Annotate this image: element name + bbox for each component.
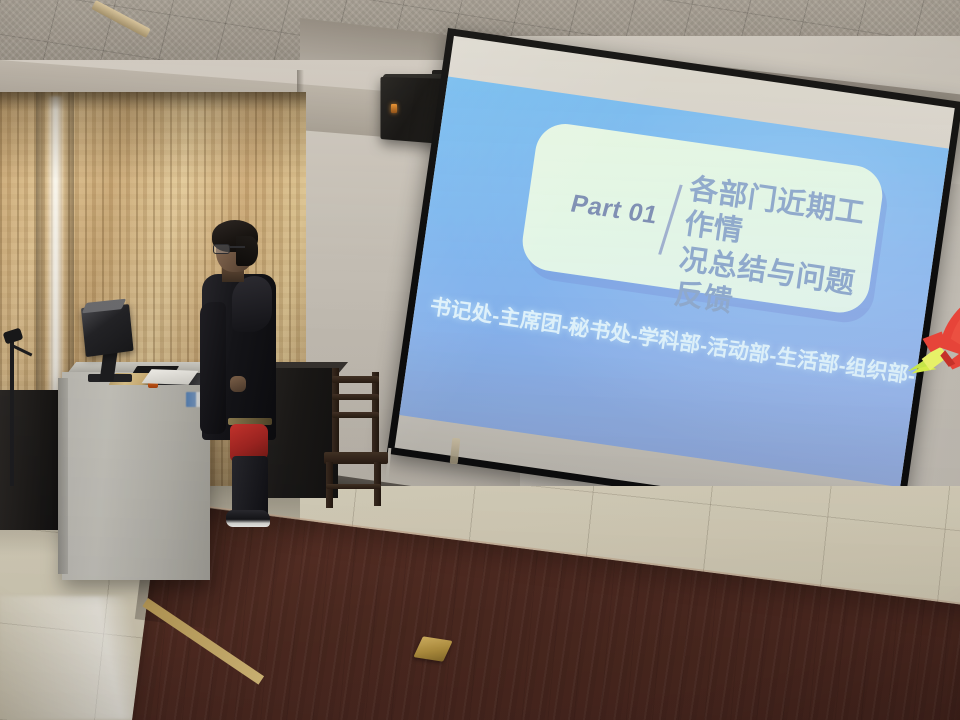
chair-slat-lower bbox=[332, 412, 379, 418]
presenter-shoe bbox=[226, 510, 270, 527]
lectern-side bbox=[58, 378, 68, 574]
mic-stand-pole bbox=[10, 336, 14, 486]
presenter-hand bbox=[230, 376, 246, 392]
slide-title: 各部门近期工作情 况总结与问题反馈 bbox=[672, 172, 878, 339]
glasses-icon bbox=[213, 244, 230, 254]
chair-back-post-right bbox=[372, 372, 379, 464]
classroom-photo: Part 01 各部门近期工作情 况总结与问题反馈 书记处-主席团-秘书处-学科… bbox=[0, 0, 960, 720]
chair-slat-middle bbox=[332, 394, 379, 400]
papers bbox=[142, 369, 199, 385]
presenter-hood bbox=[232, 276, 272, 332]
chair-stretcher bbox=[326, 484, 381, 489]
glasses-temple bbox=[229, 246, 245, 248]
presenter-arm bbox=[200, 302, 226, 434]
presenter bbox=[196, 218, 282, 530]
presenter-hair-side bbox=[236, 236, 258, 266]
speaker-power-led-icon bbox=[391, 104, 397, 113]
wooden-chair[interactable] bbox=[324, 368, 390, 508]
chair-slat-top bbox=[332, 376, 379, 383]
presenter-legs bbox=[232, 456, 268, 518]
